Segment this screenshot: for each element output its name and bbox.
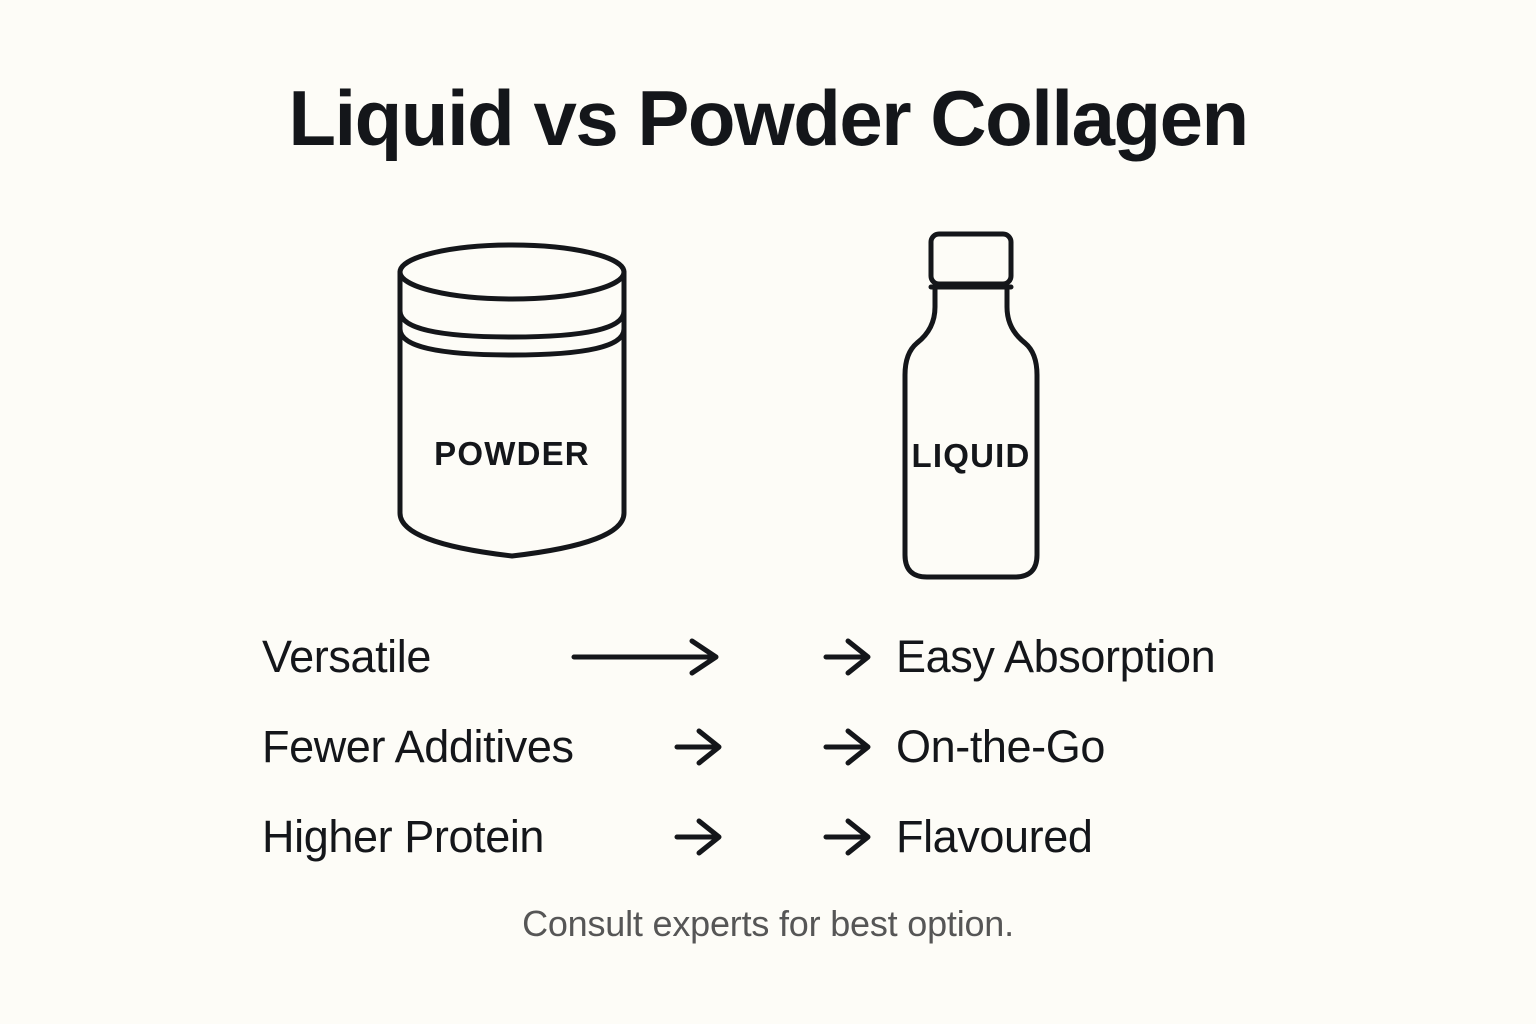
arrow-right-icon [822,725,874,769]
page-title: Liquid vs Powder Collagen [0,78,1536,160]
powder-jar-icon [378,225,646,580]
comparison-row: Versatile Easy Absorption [0,612,1536,702]
liquid-product: LIQUID [895,225,1047,585]
comparison-row: Higher Protein Flavoured [0,792,1536,882]
liquid-benefit: Easy Absorption [822,612,1215,702]
powder-arrow-slot [470,612,725,702]
liquid-benefit-label: Easy Absorption [896,631,1215,683]
arrow-right-icon [673,725,725,769]
powder-benefit-label: Versatile [262,612,431,702]
arrow-right-icon [822,635,874,679]
arrow-right-icon [822,815,874,859]
comparison-row: Fewer Additives On-the-Go [0,702,1536,792]
liquid-bottle-label: LIQUID [895,437,1047,475]
liquid-benefit-label: On-the-Go [896,721,1105,773]
liquid-bottle-icon [895,225,1047,585]
comparison-list: Versatile Easy Absorption Fewer Additive… [0,612,1536,882]
powder-product: POWDER [378,225,646,580]
liquid-benefit-label: Flavoured [896,811,1093,863]
liquid-benefit: On-the-Go [822,702,1105,792]
product-illustrations: POWDER LIQUID [0,225,1536,590]
powder-arrow-slot [470,702,725,792]
liquid-benefit: Flavoured [822,792,1093,882]
footer-note: Consult experts for best option. [0,903,1536,945]
powder-arrow-slot [470,792,725,882]
arrow-right-icon [673,815,725,859]
infographic-canvas: Liquid vs Powder Collagen POWDER [0,0,1536,1024]
long-arrow-right-icon [570,635,725,679]
powder-jar-label: POWDER [378,435,646,473]
